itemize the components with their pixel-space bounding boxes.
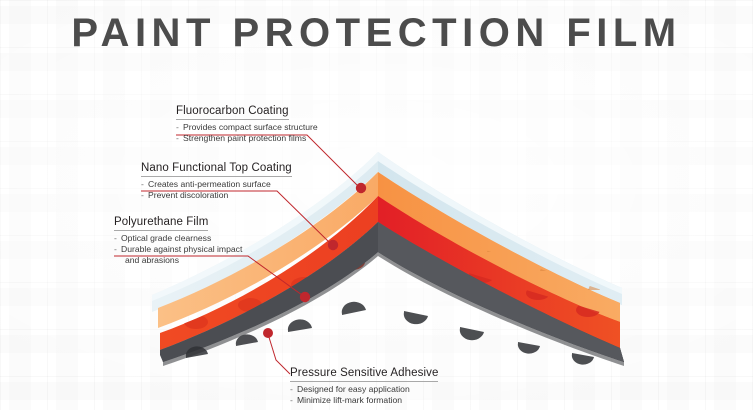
callout-bullet: Minimize lift-mark formation <box>290 395 438 406</box>
callout-bullet-continuation: and abrasions <box>114 255 242 266</box>
callout-bullet: Strengthen paint protection films <box>176 133 318 144</box>
callout-fluorocarbon: Fluorocarbon Coating Provides compact su… <box>176 101 318 144</box>
callout-bullet: Provides compact surface structure <box>176 122 318 133</box>
callout-bullet: Optical grade clearness <box>114 233 242 244</box>
callout-title-adhesive: Pressure Sensitive Adhesive <box>290 367 438 382</box>
callout-bullets-fluorocarbon: Provides compact surface structure Stren… <box>176 122 318 144</box>
callout-bullets-adhesive: Designed for easy application Minimize l… <box>290 384 438 406</box>
callout-bullets-nano: Creates anti-permeation surface Prevent … <box>141 179 292 201</box>
callout-bullet: Prevent discoloration <box>141 190 292 201</box>
callout-bullet: Durable against physical impact <box>114 244 242 255</box>
callout-title-polyurethane: Polyurethane Film <box>114 216 208 231</box>
diagram-canvas: PAINT PROTECTION FILM <box>0 0 753 410</box>
layer-stack-illustration <box>0 0 753 410</box>
callout-adhesive: Pressure Sensitive Adhesive Designed for… <box>290 363 438 406</box>
callout-title-fluorocarbon: Fluorocarbon Coating <box>176 105 289 120</box>
callout-bullets-polyurethane: Optical grade clearness Durable against … <box>114 233 242 267</box>
callout-bullet: Creates anti-permeation surface <box>141 179 292 190</box>
callout-polyurethane: Polyurethane Film Optical grade clearnes… <box>114 212 242 267</box>
callout-nano: Nano Functional Top Coating Creates anti… <box>141 158 292 201</box>
callout-bullet: Designed for easy application <box>290 384 438 395</box>
callout-title-nano: Nano Functional Top Coating <box>141 162 292 177</box>
